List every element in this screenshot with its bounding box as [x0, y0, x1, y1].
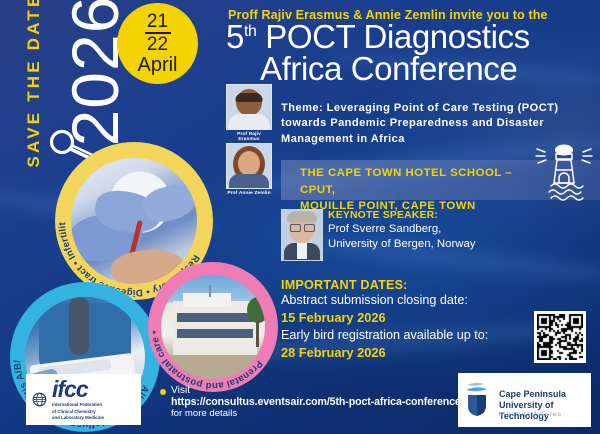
cput-logo: Cape Peninsula University of Technology … [458, 373, 591, 427]
qr-code[interactable] [534, 311, 586, 363]
ring-label: Prenatal and postnatal care • Hormone • … [148, 262, 265, 391]
theme-line-1: Theme: Leveraging Point of Care Testing … [281, 101, 599, 116]
date-month: April [137, 55, 177, 75]
visit-url[interactable]: https://consultus.eventsair.com/5th-poct… [171, 396, 490, 408]
page-title: 5th POCT Diagnostics Africa Conference [226, 21, 600, 86]
globe-icon [32, 392, 47, 407]
host-name: Prof Annie Zemlin [226, 191, 272, 196]
ifcc-wordmark: ifcc [52, 376, 88, 402]
host-name: Prof Rajiv Erasmus [226, 132, 272, 142]
venue-line-1: THE CAPE TOWN HOTEL SCHOOL – CPUT, [300, 165, 550, 198]
theme-line-2: towards Pandemic Preparedness and Disast… [281, 116, 599, 131]
bubble-ring-text: Prenatal and postnatal care • Hormone • … [148, 262, 278, 392]
keynote-block: KEYNOTE SPEAKER: Prof Sverre Sandberg, U… [328, 210, 598, 252]
lighthouse-icon [533, 143, 595, 203]
abstract-deadline-label: Abstract submission closing date: [281, 292, 571, 309]
conference-poster: SAVE THE DATE 2026 21 22 April Respirato… [0, 0, 600, 434]
title-line-2: Africa Conference [226, 53, 600, 85]
host-photo [226, 84, 272, 130]
title-number: 5 [226, 18, 244, 55]
keynote-name: Prof Sverre Sandberg, [328, 222, 598, 236]
keynote-affiliation: University of Bergen, Norway [328, 237, 598, 251]
host-photo [226, 143, 272, 189]
title-ordinal: th [244, 23, 257, 40]
important-dates-block: IMPORTANT DATES: Abstract submission clo… [281, 278, 571, 361]
date-circle: 21 22 April [117, 3, 198, 84]
bullet-icon [160, 389, 166, 395]
ifcc-subtitle-3: and Laboratory Medicine [52, 415, 104, 421]
visit-label: Visit [171, 385, 190, 396]
topic-bubble-pink: Prenatal and postnatal care • Hormone • … [148, 262, 278, 392]
cput-tagline: creating futures [499, 411, 562, 418]
host-zemlin: Prof Annie Zemlin [226, 143, 272, 196]
date-day-end: 22 [147, 35, 168, 54]
earlybird-date: 28 February 2026 [281, 344, 571, 361]
cput-name-line-1: Cape Peninsula [499, 389, 591, 400]
visit-more: for more details [171, 408, 490, 419]
ifcc-subtitle-2: of Clinical Chemistry [52, 409, 104, 415]
date-day-start: 21 [147, 12, 168, 31]
venue-text: THE CAPE TOWN HOTEL SCHOOL – CPUT, MOUIL… [300, 165, 550, 215]
cput-shield-icon [462, 379, 502, 419]
visit-block: Visit https://consultus.eventsair.com/5t… [160, 385, 490, 419]
abstract-deadline-date: 15 February 2026 [281, 309, 571, 326]
host-erasmus: Prof Rajiv Erasmus [226, 84, 272, 142]
important-dates-title: IMPORTANT DATES: [281, 278, 571, 292]
earlybird-label: Early bird registration available up to: [281, 327, 571, 344]
theme-text: Theme: Leveraging Point of Care Testing … [281, 101, 599, 147]
keynote-label: KEYNOTE SPEAKER: [328, 210, 598, 221]
save-the-date-text: SAVE THE DATE [24, 0, 44, 170]
svg-text:Prenatal and postnatal care •: Prenatal and postnatal care • Hormone • … [148, 262, 265, 391]
ifcc-logo: ifcc International Federation of Clinica… [26, 374, 141, 425]
keynote-photo [281, 209, 323, 261]
ifcc-subtitle-1: International Federation [52, 402, 104, 408]
